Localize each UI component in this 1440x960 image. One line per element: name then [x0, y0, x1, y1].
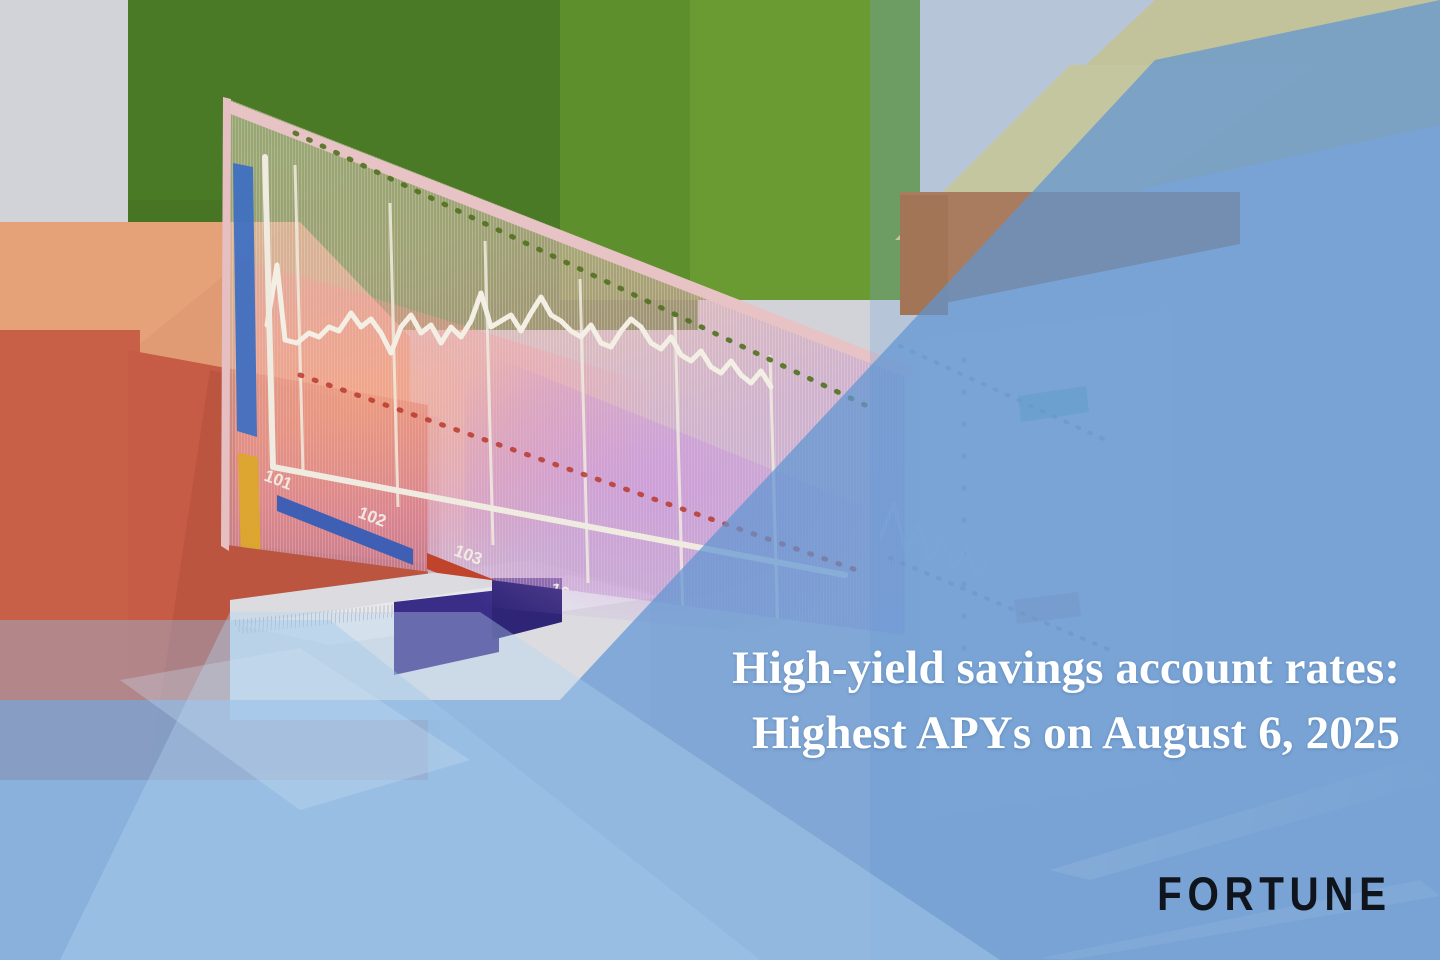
x-tick-2: 103	[452, 541, 485, 569]
blue-vertical-bar	[233, 163, 257, 437]
fortune-wordmark: FORTUNE	[1158, 866, 1392, 921]
x-tick-3: 104	[548, 579, 582, 607]
x-tick-1: 102	[356, 503, 389, 531]
page-title: High-yield savings account rates: Highes…	[0, 636, 1400, 766]
fortune-logo: FORTUNE	[0, 866, 1392, 921]
headline-line-2: Highest APYs on August 6, 2025	[0, 701, 1400, 766]
primary-volatility-line	[267, 265, 771, 387]
yellow-vertical-bar	[238, 453, 262, 603]
poster-canvas: 101 102 103 104 105	[0, 0, 1440, 960]
upper-trend-dotted-line	[295, 133, 865, 405]
headline-line-1: High-yield savings account rates:	[0, 636, 1400, 701]
chart-x-tick-labels: 101 102 103 104 105	[262, 466, 677, 635]
timeline-bar-1	[277, 495, 413, 565]
